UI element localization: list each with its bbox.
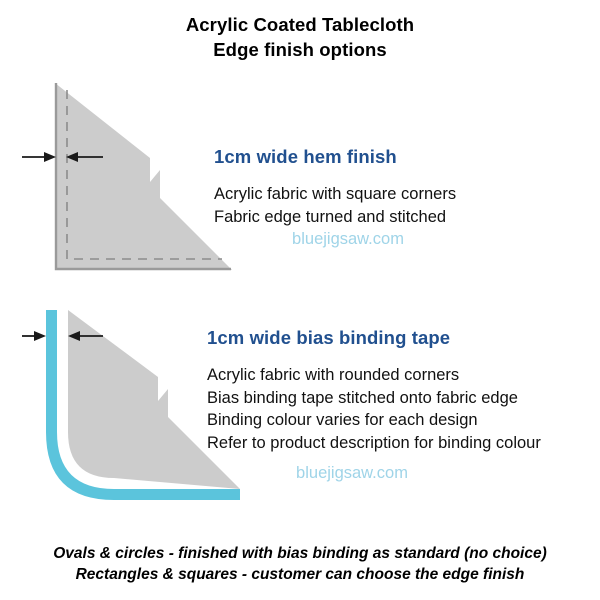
footer-line-1: Ovals & circles - finished with bias bin… [0,543,600,564]
hem-body-line-1: Acrylic fabric with square corners [214,183,482,206]
fabric-raw-edge-square [56,83,231,269]
hem-body-line-2: Fabric edge turned and stitched [214,206,482,229]
hem-stitch-dashed-line [67,90,222,259]
rounded-corner-binding-diagram [0,0,600,600]
brand-label-binding: bluejigsaw.com [207,462,497,485]
square-corner-hem-diagram [0,0,600,600]
page-title: Acrylic Coated Tablecloth Edge finish op… [0,12,600,62]
section-body-hem-finish: Acrylic fabric with square corners Fabri… [214,183,482,251]
binding-body-line-4: Refer to product description for binding… [207,432,541,455]
binding-measure-arrows [22,331,103,341]
binding-body-line-3: Binding colour varies for each design [207,409,541,432]
page-title-line-1: Acrylic Coated Tablecloth [0,12,600,37]
section-heading-bias-binding: 1cm wide bias binding tape [207,327,450,349]
hem-measure-arrows [22,152,103,162]
binding-body-line-2: Bias binding tape stitched onto fabric e… [207,387,541,410]
brand-label-hem: bluejigsaw.com [214,228,482,251]
page-title-line-2: Edge finish options [0,37,600,62]
footer-line-2: Rectangles & squares - customer can choo… [0,564,600,585]
binding-body-line-1: Acrylic fabric with rounded corners [207,364,541,387]
edge-finish-options-infographic: Acrylic Coated Tablecloth Edge finish op… [0,0,600,600]
section-heading-hem-finish: 1cm wide hem finish [214,146,397,168]
footer-note: Ovals & circles - finished with bias bin… [0,543,600,585]
bias-binding-tip [228,489,240,500]
fabric-triangle-square-corner [55,83,232,270]
section-body-bias-binding: Acrylic fabric with rounded corners Bias… [207,364,541,485]
